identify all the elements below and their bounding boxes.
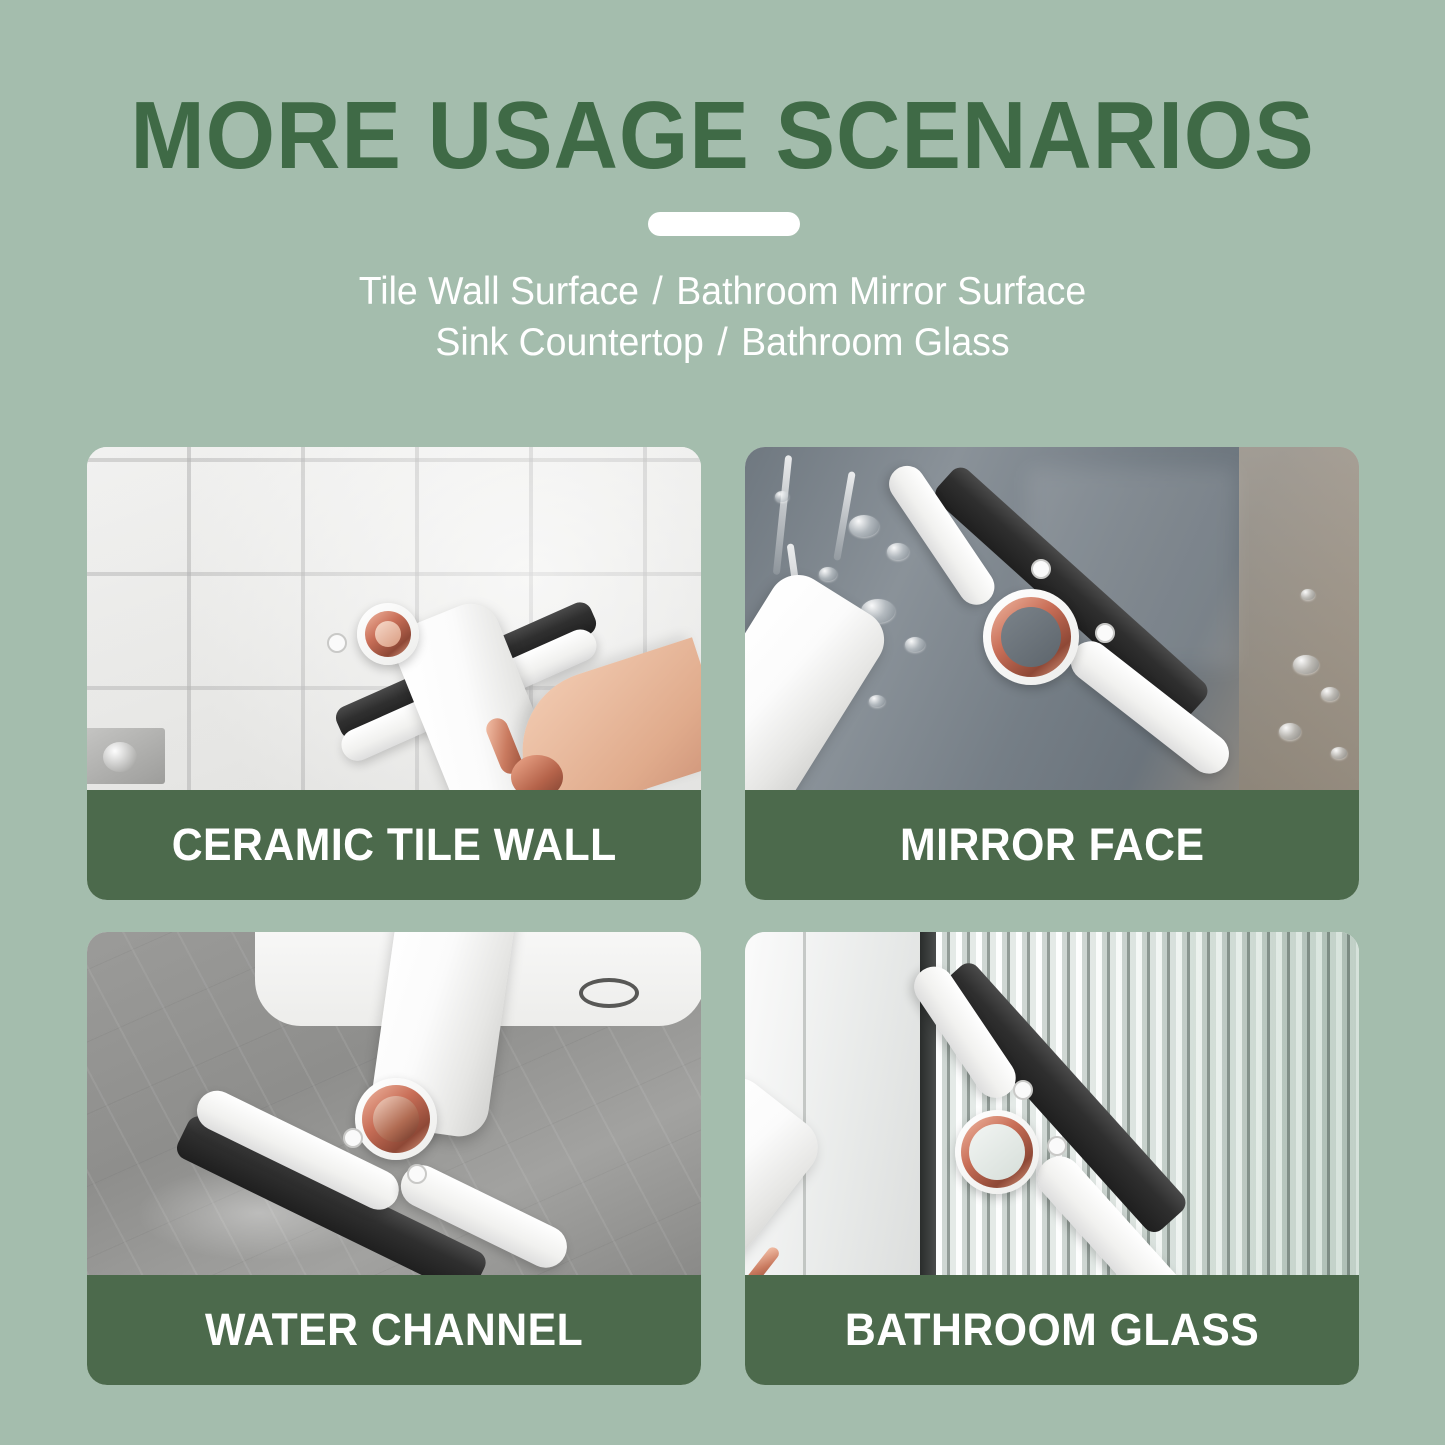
squeegee-hinge: [955, 1110, 1039, 1194]
card-caption-bar: MIRROR FACE: [745, 790, 1359, 900]
card-caption-label: CERAMIC TILE WALL: [171, 819, 616, 871]
hinge-rose-gold-ring: [362, 1085, 430, 1153]
squeegee-tool: [745, 447, 1359, 790]
hinge-pivot-screw: [1047, 1136, 1067, 1156]
hinge-pivot-screw: [1095, 623, 1115, 643]
squeegee-tool: [745, 932, 1359, 1275]
header: MORE USAGE SCENARIOS Tile Wall Surface/B…: [0, 0, 1445, 430]
subtitle-separator-1: /: [639, 270, 676, 313]
scenario-card-water-channel[interactable]: WATER CHANNEL: [87, 932, 701, 1385]
page-title: MORE USAGE SCENARIOS: [51, 88, 1395, 184]
hinge-core: [969, 1124, 1025, 1180]
water-channel-photo: [87, 932, 701, 1275]
squeegee-hinge: [355, 1078, 437, 1160]
card-caption-bar: CERAMIC TILE WALL: [87, 790, 701, 900]
subtitle: Tile Wall Surface/Bathroom Mirror Surfac…: [29, 266, 1416, 368]
subtitle-line-1: Tile Wall Surface/Bathroom Mirror Surfac…: [29, 266, 1416, 317]
hinge-pivot-screw: [343, 1128, 363, 1148]
hinge-pivot-screw: [1013, 1080, 1033, 1100]
subtitle-sink-countertop: Sink Countertop: [435, 321, 703, 364]
scenario-card-bathroom-glass[interactable]: BATHROOM GLASS: [745, 932, 1359, 1385]
divider-pill: [648, 212, 800, 236]
mirror-face-photo: [745, 447, 1359, 790]
hinge-rose-gold-ring: [365, 611, 411, 657]
squeegee-hinge: [983, 589, 1079, 685]
handle-accent-pill: [745, 1245, 781, 1275]
squeegee-handle: [745, 1066, 830, 1275]
hinge-pivot-screw: [327, 633, 347, 653]
card-caption-label: MIRROR FACE: [900, 819, 1204, 871]
scenario-card-mirror-face[interactable]: MIRROR FACE: [745, 447, 1359, 900]
hinge-rose-gold-ring: [991, 597, 1071, 677]
scenario-card-ceramic-tile-wall[interactable]: CERAMIC TILE WALL: [87, 447, 701, 900]
subtitle-separator-2: /: [704, 321, 741, 364]
bathroom-glass-photo: [745, 932, 1359, 1275]
card-caption-label: BATHROOM GLASS: [845, 1304, 1259, 1356]
card-caption-label: WATER CHANNEL: [205, 1304, 583, 1356]
tile-wall-photo: [87, 447, 701, 790]
squeegee-tool: [87, 447, 701, 790]
hinge-pivot-screw: [407, 1164, 427, 1184]
hinge-core: [373, 1096, 419, 1142]
subtitle-bathroom-mirror-surface: Bathroom Mirror Surface: [676, 270, 1086, 313]
squeegee-hinge: [357, 603, 419, 665]
hinge-core: [375, 621, 401, 647]
squeegee-tool: [87, 932, 701, 1275]
hinge-core: [1001, 607, 1061, 667]
subtitle-tile-wall-surface: Tile Wall Surface: [359, 270, 639, 313]
subtitle-bathroom-glass: Bathroom Glass: [741, 321, 1009, 364]
subtitle-line-2: Sink Countertop/Bathroom Glass: [29, 317, 1416, 368]
squeegee-handle: [745, 564, 895, 790]
hinge-rose-gold-ring: [961, 1116, 1033, 1188]
card-caption-bar: BATHROOM GLASS: [745, 1275, 1359, 1385]
hinge-pivot-screw: [1031, 559, 1051, 579]
card-caption-bar: WATER CHANNEL: [87, 1275, 701, 1385]
scenario-grid: CERAMIC TILE WALL: [87, 447, 1359, 1385]
